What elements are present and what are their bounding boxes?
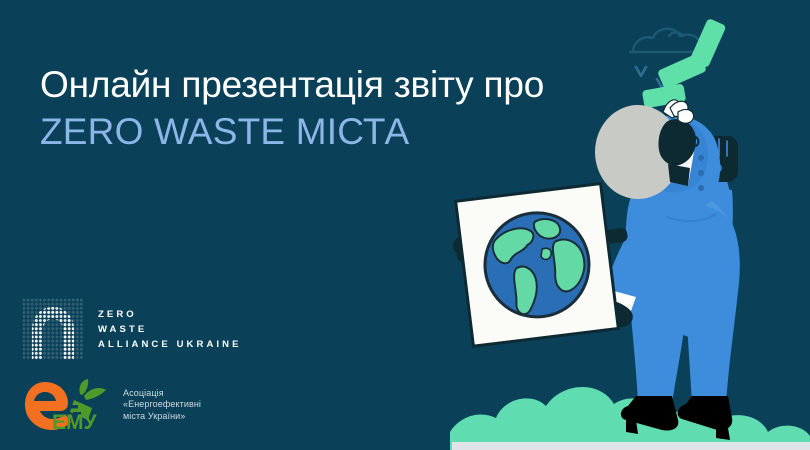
zwa-line-3: ALLIANCE UKRAINE	[98, 337, 242, 352]
orange-e-sprout-icon: ЕМУ	[18, 378, 114, 432]
zwa-line-2: WASTE	[98, 322, 242, 337]
halftone-dot-arch-icon	[22, 298, 84, 360]
aemu-line-3: міста України»	[123, 411, 201, 423]
presentation-slide: Онлайн презентація звіту про ZERO WASTE …	[0, 0, 810, 450]
bottom-light-strip	[452, 442, 810, 450]
zwa-line-1: ZERO	[98, 307, 242, 322]
headline-line-2: ZERO WASTE МІСТА	[40, 108, 620, 156]
aemu-line-1: Асоціація	[123, 388, 201, 400]
rain-cloud-outline	[630, 29, 706, 52]
headline-line-1: Онлайн презентація звіту про	[40, 62, 620, 108]
aemu-association-text: Асоціація «Енергоефективні міста України…	[123, 388, 201, 423]
zero-waste-alliance-logo: ZERO WASTE ALLIANCE UKRAINE	[22, 298, 242, 360]
motion-dashes	[642, 18, 727, 109]
zero-waste-alliance-wordmark: ZERO WASTE ALLIANCE UKRAINE	[98, 307, 242, 352]
slide-headline: Онлайн презентація звіту про ZERO WASTE …	[40, 62, 620, 156]
earth-sign	[456, 184, 619, 347]
aemu-monogram: ЕМУ	[52, 411, 98, 432]
aemu-association-logo: ЕМУ Асоціація «Енергоефективні міста Укр…	[18, 378, 201, 432]
aemu-line-2: «Енергоефективні	[123, 399, 201, 411]
